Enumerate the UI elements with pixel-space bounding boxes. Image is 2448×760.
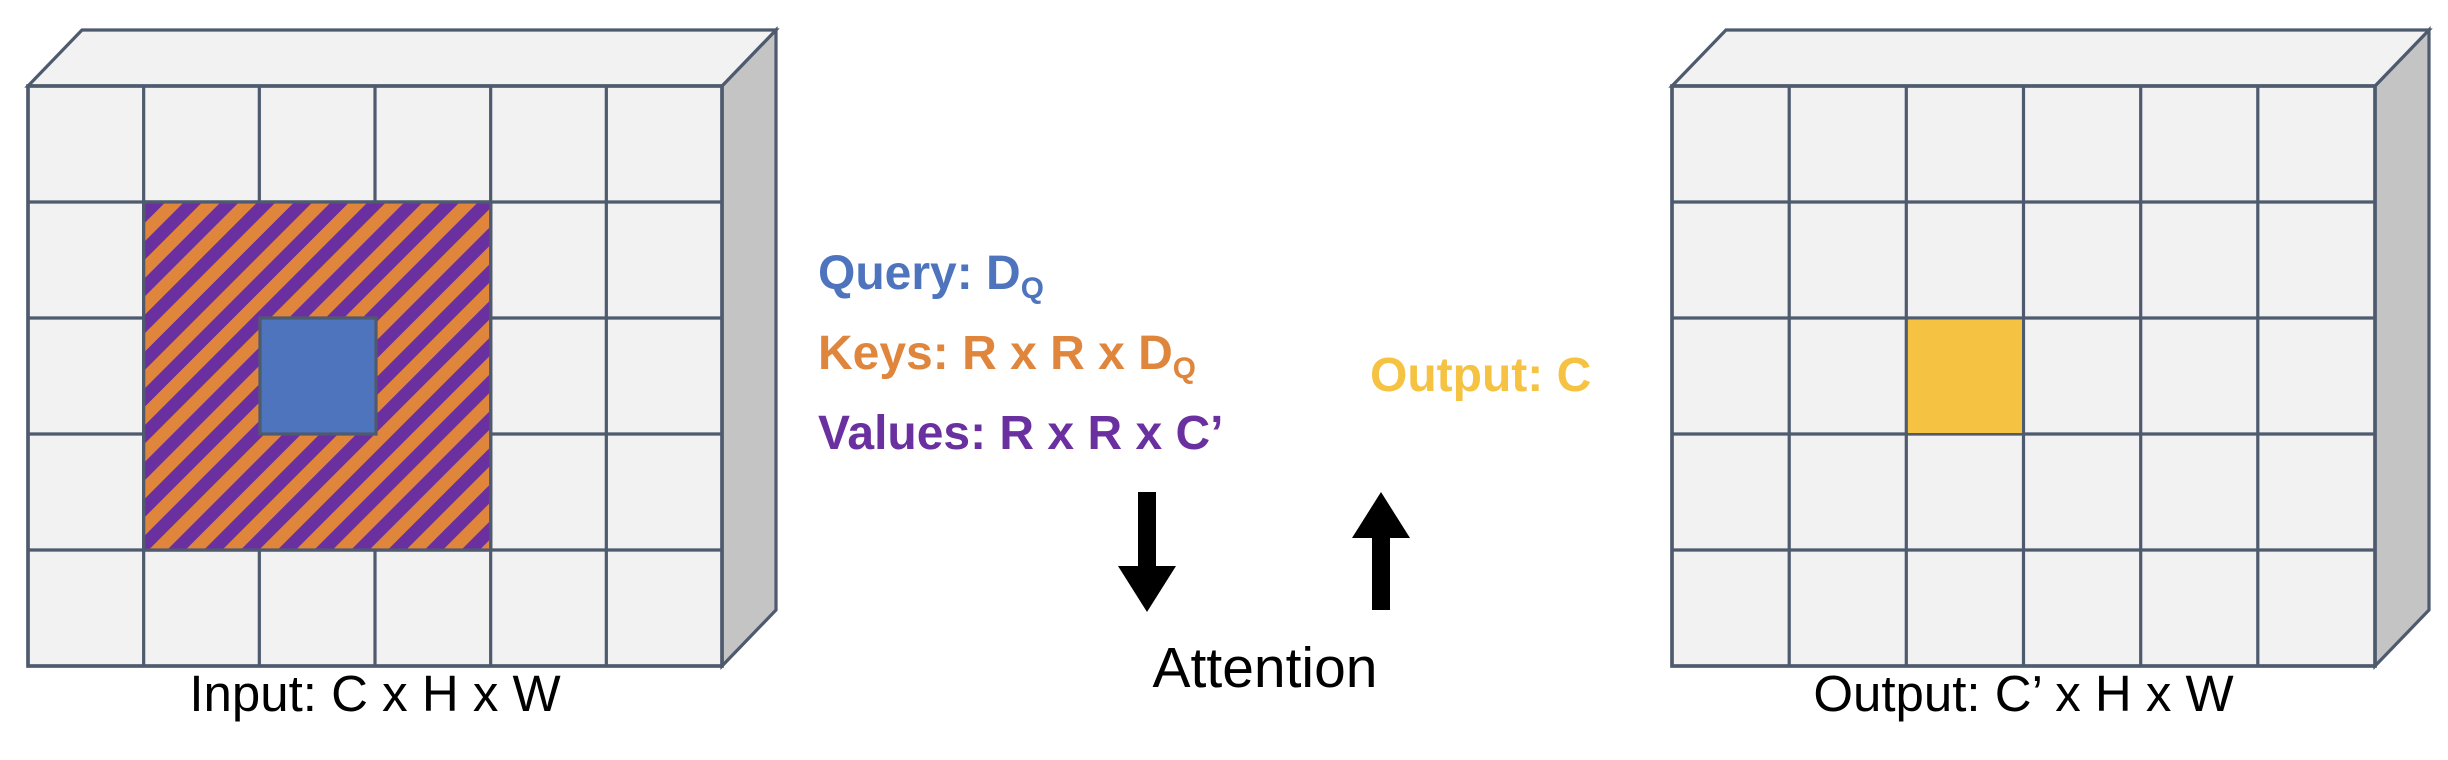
input-query-cell-overlay: [260, 318, 376, 434]
up-arrow-icon: [1352, 492, 1410, 610]
input-volume: [28, 30, 776, 666]
input-volume-top-face: [28, 30, 776, 86]
output-volume-top-face: [1672, 30, 2429, 86]
diagram-canvas: Input: C x H x W Output: C’ x H x W Quer…: [0, 0, 2448, 760]
output-highlight-cell: [1908, 320, 2022, 433]
down-arrow-icon: [1118, 492, 1176, 612]
attention-arrows: [1118, 492, 1410, 612]
output-volume: [1672, 30, 2429, 666]
input-volume-side-face: [722, 30, 776, 666]
diagram-svg: [0, 0, 2448, 760]
output-volume-side-face: [2375, 30, 2429, 666]
